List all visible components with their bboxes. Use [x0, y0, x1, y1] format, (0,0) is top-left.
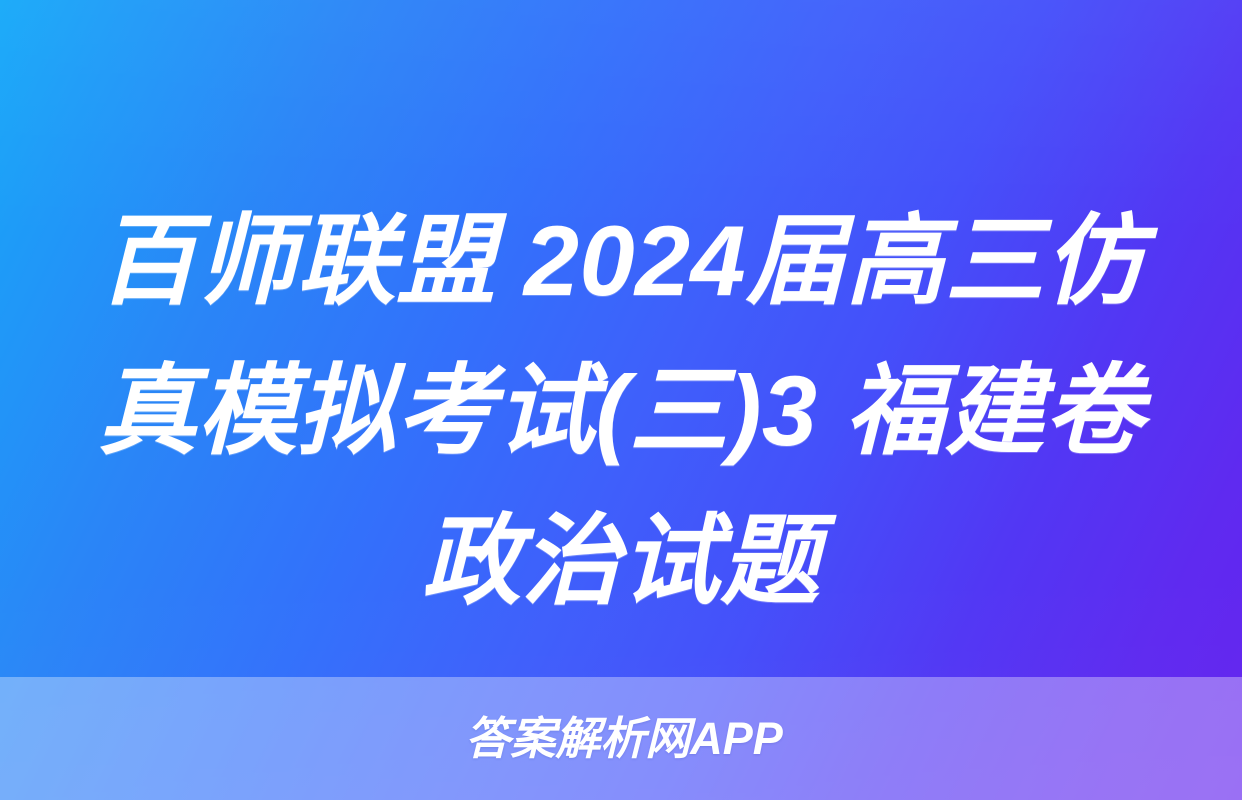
title-line-3: 政治试题 — [52, 486, 1190, 636]
exam-cover-card: 百师联盟 2024届高三仿 真模拟考试(三)3 福建卷 政治试题 答案解析网AP… — [0, 0, 1242, 800]
watermark-label: 答案解析网APP — [465, 711, 783, 767]
title-line-1: 百师联盟 2024届高三仿 — [52, 186, 1190, 336]
page-title: 百师联盟 2024届高三仿 真模拟考试(三)3 福建卷 政治试题 — [0, 186, 1242, 636]
title-line-2: 真模拟考试(三)3 福建卷 — [52, 336, 1190, 486]
watermark-banner: 答案解析网APP — [0, 677, 1242, 800]
